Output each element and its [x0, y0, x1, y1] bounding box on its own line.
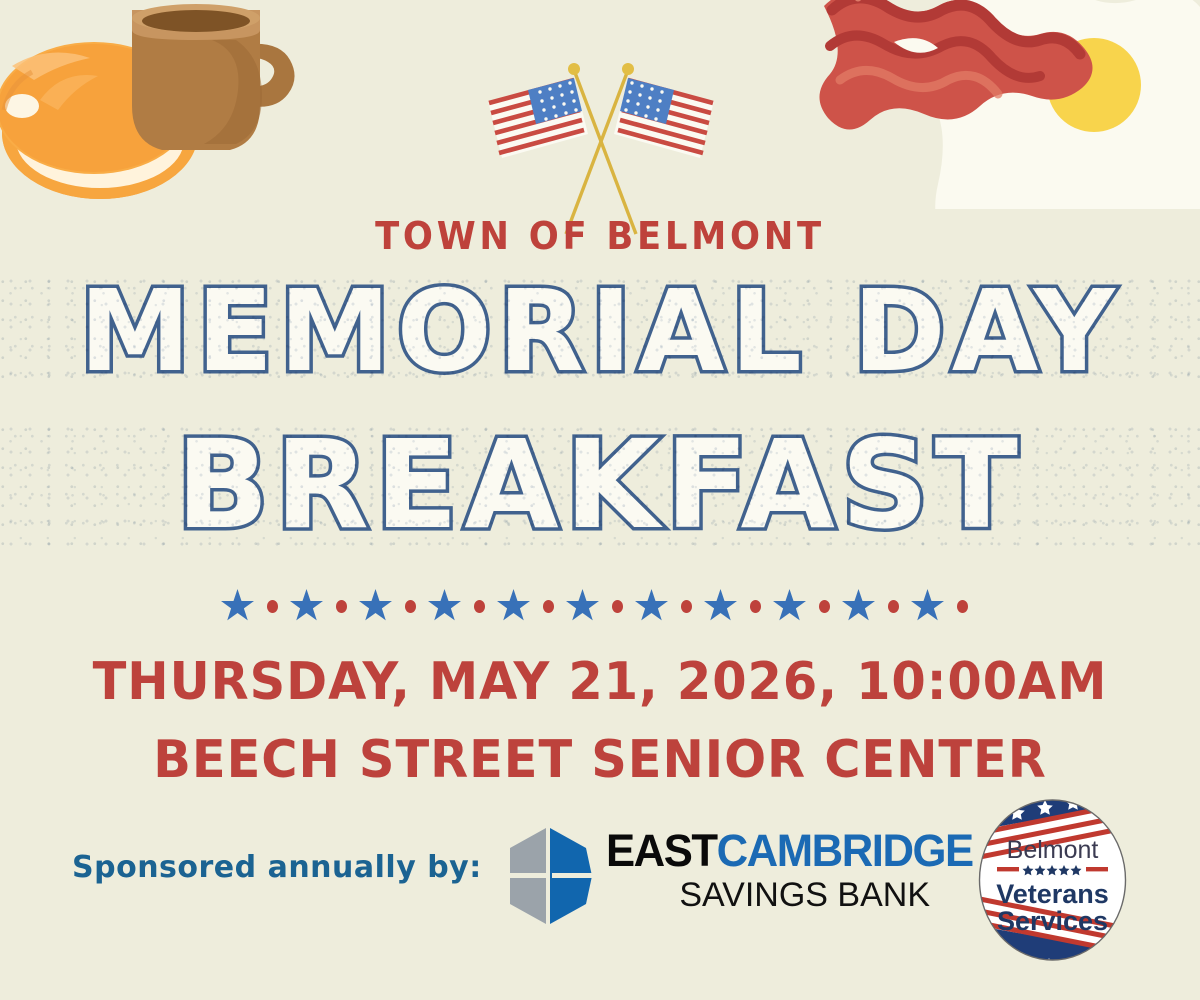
page-title-line-1: MEMORIAL DAY [0, 276, 1200, 388]
kicker-town-of-belmont: TOWN OF BELMONT [42, 214, 1158, 258]
divider-star [704, 589, 738, 623]
belmont-veterans-services-badge: Belmont Veterans Services [975, 796, 1130, 964]
bank-name-line: EASTCAMBRIDGE [606, 828, 920, 874]
bagel-illustration [0, 42, 198, 199]
bank-wordmark: EASTCAMBRIDGE SAVINGS BANK [606, 828, 930, 915]
sponsor-row: Sponsored annually by: EASTCAMBRIDGE SAV… [0, 790, 1200, 975]
divider-dot [405, 600, 416, 613]
divider-star [290, 589, 324, 623]
divider-dot [681, 600, 692, 613]
fried-egg-illustration [926, 0, 1200, 209]
badge-line-2: Veterans [996, 879, 1109, 909]
flyer-canvas: TOWN OF BELMONT MEMORIAL DAY BREAKFAST T… [0, 0, 1200, 1000]
divider-star [842, 589, 876, 623]
divider-dot [888, 600, 899, 613]
american-flag-right [614, 78, 714, 158]
bank-name-part-2: CAMBRIDGE [717, 825, 973, 876]
bank-name-part-1: EAST [606, 825, 717, 876]
star-divider [0, 586, 1200, 626]
divider-star [221, 589, 255, 623]
divider-dot [336, 600, 347, 613]
divider-star [359, 589, 393, 623]
event-venue: BEECH STREET SENIOR CENTER [30, 730, 1170, 790]
badge-line-3: Services [997, 906, 1108, 936]
flag-pole-left [574, 70, 636, 234]
divider-star [497, 589, 531, 623]
divider-dot [957, 600, 968, 613]
american-flag-left [488, 78, 588, 158]
flag-finial-right [622, 63, 634, 75]
badge-line-1: Belmont [1007, 836, 1099, 864]
divider-star [566, 589, 600, 623]
divider-dot [750, 600, 761, 613]
bank-tagline: SAVINGS BANK [606, 876, 930, 915]
bank-hexagon-icon [500, 826, 596, 926]
divider-star [773, 589, 807, 623]
divider-star [911, 589, 945, 623]
divider-star [635, 589, 669, 623]
coffee-mug-illustration [132, 4, 295, 150]
flag-finial-left [568, 63, 580, 75]
east-cambridge-savings-bank-logo: EASTCAMBRIDGE SAVINGS BANK [500, 822, 930, 932]
divider-dot [543, 600, 554, 613]
flag-pole-right [566, 70, 628, 234]
event-datetime: THURSDAY, MAY 21, 2026, 10:00AM [30, 652, 1170, 712]
sponsor-label: Sponsored annually by: [72, 850, 482, 885]
crossed-american-flags-illustration [470, 52, 732, 237]
page-title-line-2: BREAKFAST [0, 424, 1200, 546]
divider-dot [819, 600, 830, 613]
bacon-illustration [819, 0, 1092, 130]
bacon-and-egg-illustration [806, 0, 1200, 209]
divider-dot [612, 600, 623, 613]
bagel-and-coffee-illustration [0, 0, 342, 223]
divider-dot [474, 600, 485, 613]
divider-star [428, 589, 462, 623]
divider-dot [267, 600, 278, 613]
